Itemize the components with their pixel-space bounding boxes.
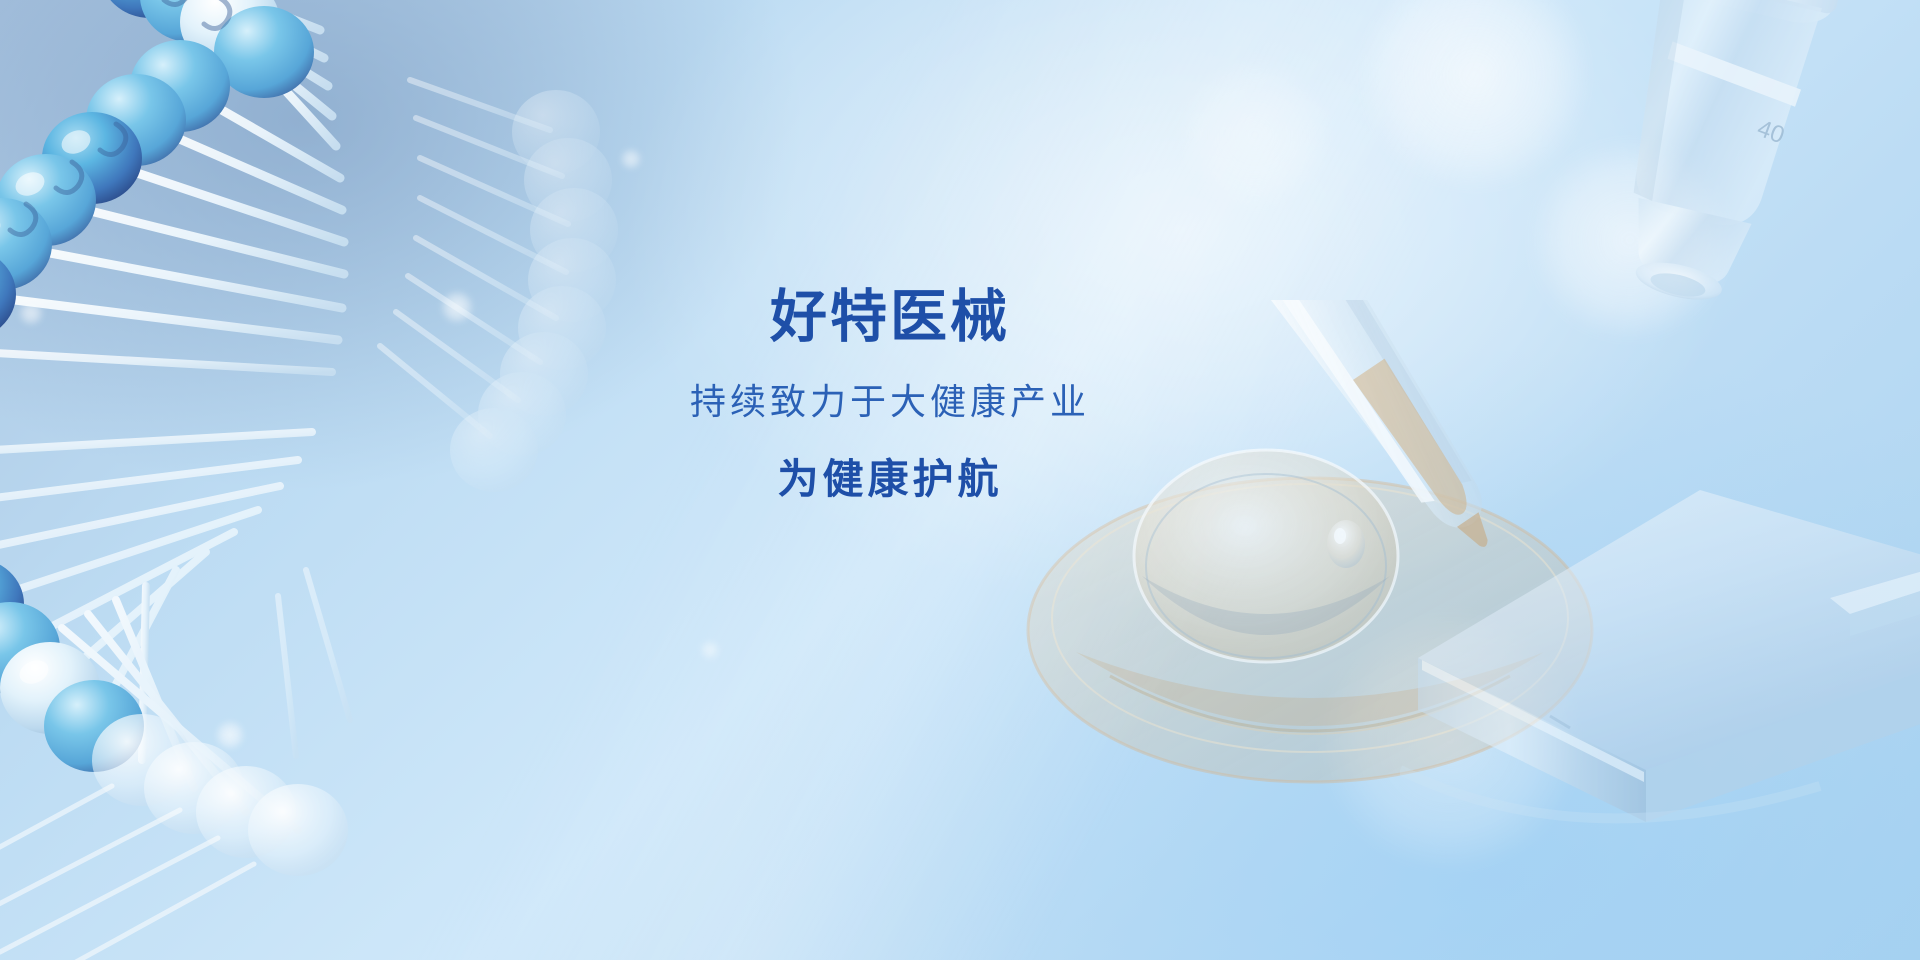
- bokeh-light-icon: [620, 148, 642, 170]
- company-subtitle: 持续致力于大健康产业: [690, 380, 1090, 423]
- company-tagline: 为健康护航: [778, 455, 1003, 504]
- bokeh-light-icon: [1180, 60, 1330, 210]
- bokeh-light-icon: [1360, 0, 1590, 190]
- headline-block: 好特医械 持续致力于大健康产业 为健康护航: [0, 286, 1920, 504]
- company-title: 好特医械: [770, 286, 1010, 350]
- lab-bench-icon: [1400, 470, 1920, 900]
- hero-banner: 40: [0, 0, 1920, 960]
- bokeh-light-icon: [700, 640, 720, 660]
- bokeh-light-icon: [215, 720, 245, 750]
- svg-text:40: 40: [1754, 115, 1788, 150]
- bokeh-light-icon: [1320, 610, 1580, 870]
